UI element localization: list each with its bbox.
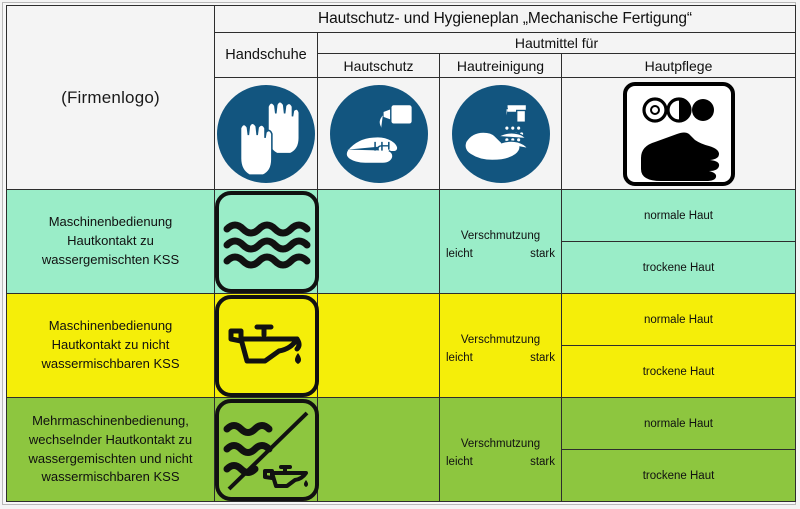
soil-title: Verschmutzung	[440, 328, 561, 346]
cell-hautreinigung-non-water-miscible-kss: Verschmutzung leicht stark	[440, 294, 562, 398]
table-row: Mehrmaschinenbedienung, wechselnder Haut…	[7, 398, 796, 450]
pictogram-cell-handschuhe	[215, 78, 318, 190]
hygiene-plan-table: (Firmenlogo) Hautschutz- und Hygieneplan…	[6, 5, 796, 502]
row-label-line: Mehrmaschinenbedienung,	[7, 412, 214, 431]
skin-protection-lotion-icon	[330, 85, 428, 183]
cell-hautpflege-dry-water-mixed-kss: trockene Haut	[562, 242, 796, 294]
row-label-line: wassergemischten und nicht	[7, 450, 214, 469]
soil-title: Verschmutzung	[440, 224, 561, 242]
row-icon-cell-non-water-miscible-kss	[215, 294, 318, 398]
header-title-row: (Firmenlogo) Hautschutz- und Hygieneplan…	[7, 6, 796, 33]
row-icon-cell-mixed-operation-kss	[215, 398, 318, 502]
row-label-line: wassergemischten KSS	[7, 251, 214, 270]
soil-heavy-label: stark	[530, 456, 555, 468]
waves-and-oil-can-icon	[215, 399, 319, 501]
hygiene-plan-page: (Firmenlogo) Hautschutz- und Hygieneplan…	[0, 0, 800, 509]
cell-hautpflege-dry-non-water-miscible-kss: trockene Haut	[562, 346, 796, 398]
soil-light-label: leicht	[446, 352, 473, 364]
company-logo-cell: (Firmenlogo)	[7, 6, 215, 190]
hand-washing-icon	[452, 85, 550, 183]
column-header-hautschutz: Hautschutz	[318, 54, 440, 78]
soil-light-label: leicht	[446, 248, 473, 260]
cell-hautschutz-mixed-operation-kss	[318, 398, 440, 502]
soil-title: Verschmutzung	[440, 432, 561, 450]
cell-hautpflege-normal-non-water-miscible-kss: normale Haut	[562, 294, 796, 346]
cell-hautpflege-dry-mixed-operation-kss: trockene Haut	[562, 450, 796, 502]
company-logo-placeholder: (Firmenlogo)	[61, 88, 160, 107]
oil-can-icon	[215, 295, 319, 397]
plan-title: Hautschutz- und Hygieneplan „Mechanische…	[215, 6, 796, 33]
cell-hautpflege-normal-water-mixed-kss: normale Haut	[562, 190, 796, 242]
table-row: Maschinenbedienung Hautkontakt zu wasser…	[7, 190, 796, 242]
row-label-water-mixed-kss: Maschinenbedienung Hautkontakt zu wasser…	[7, 190, 215, 294]
cell-hautschutz-non-water-miscible-kss	[318, 294, 440, 398]
cell-hautschutz-water-mixed-kss	[318, 190, 440, 294]
column-header-hautpflege: Hautpflege	[562, 54, 796, 78]
row-label-line: Hautkontakt zu nicht	[7, 336, 214, 355]
cell-hautreinigung-mixed-operation-kss: Verschmutzung leicht stark	[440, 398, 562, 502]
row-label-mixed-operation-kss: Mehrmaschinenbedienung, wechselnder Haut…	[7, 398, 215, 502]
row-label-line: wassermischbaren KSS	[7, 468, 214, 487]
row-label-line: Maschinenbedienung	[7, 317, 214, 336]
table-row: Maschinenbedienung Hautkontakt zu nicht …	[7, 294, 796, 346]
column-group-hautmittel: Hautmittel für	[318, 33, 796, 54]
soil-heavy-label: stark	[530, 352, 555, 364]
soil-heavy-label: stark	[530, 248, 555, 260]
gloves-mandatory-icon	[217, 85, 315, 183]
water-waves-icon	[215, 191, 319, 293]
row-label-line: wechselnder Hautkontakt zu	[7, 431, 214, 450]
row-label-line: Maschinenbedienung	[7, 213, 214, 232]
row-label-non-water-miscible-kss: Maschinenbedienung Hautkontakt zu nicht …	[7, 294, 215, 398]
row-icon-cell-water-mixed-kss	[215, 190, 318, 294]
cell-hautpflege-normal-mixed-operation-kss: normale Haut	[562, 398, 796, 450]
row-label-line: Hautkontakt zu	[7, 232, 214, 251]
column-header-handschuhe-label: Handschuhe	[225, 47, 306, 63]
row-label-line: wassermischbaren KSS	[7, 355, 214, 374]
skin-care-hand-icon	[623, 82, 735, 186]
soil-light-label: leicht	[446, 456, 473, 468]
pictogram-cell-hautschutz	[318, 78, 440, 190]
cell-hautreinigung-water-mixed-kss: Verschmutzung leicht stark	[440, 190, 562, 294]
pictogram-cell-hautreinigung	[440, 78, 562, 190]
column-header-handschuhe: Handschuhe	[215, 33, 318, 78]
column-header-hautreinigung: Hautreinigung	[440, 54, 562, 78]
pictogram-cell-hautpflege	[562, 78, 796, 190]
